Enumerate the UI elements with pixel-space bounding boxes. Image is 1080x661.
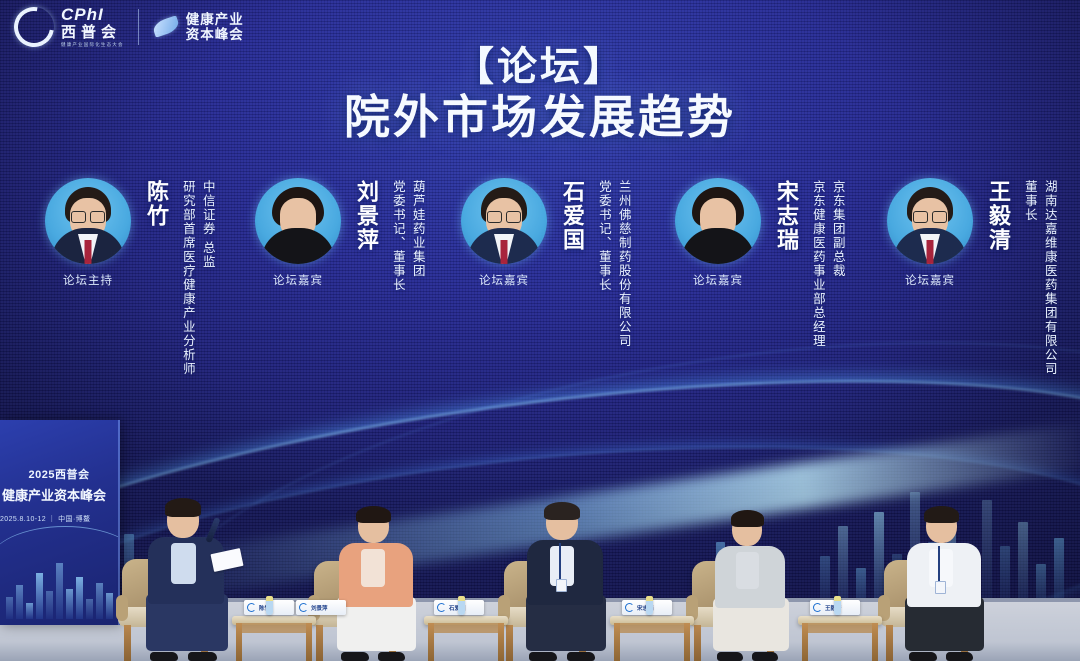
panelist-org-line: 党委书记、董事长 xyxy=(595,180,612,348)
health-capital-logo: 健康产业 资本峰会 xyxy=(153,12,244,42)
side-table xyxy=(424,615,508,661)
table-nameplate: 刘景萍 xyxy=(296,600,346,615)
panelist-card: 论坛主持陈竹中信证券 总监研究部首席医疗健康产业分析师 xyxy=(42,178,216,376)
nameplate-logo-icon xyxy=(437,603,446,612)
panelist-avatar xyxy=(461,178,547,264)
cphi-logo: CPhI 西普会 健康产业国际化生态大会 xyxy=(14,6,124,48)
panelist-name: 王毅清 xyxy=(982,180,1014,252)
seated-panelist xyxy=(898,501,990,661)
panelist-role: 论坛嘉宾 xyxy=(273,272,323,288)
water-bottle xyxy=(646,596,653,615)
cphi-logo-cn: 西普会 xyxy=(61,25,124,40)
side-table xyxy=(610,615,694,661)
panelist-org: 京东集团副总裁京东健康医药事业部总经理 xyxy=(806,180,846,348)
panelist-role: 论坛嘉宾 xyxy=(693,272,743,288)
water-bottle xyxy=(458,596,465,615)
cphi-logo-subtitle: 健康产业国际化生态大会 xyxy=(61,43,124,48)
panelist-org-line: 研究部首席医疗健康产业分析师 xyxy=(179,180,196,376)
panelist-avatar xyxy=(255,178,341,264)
seated-panelist xyxy=(330,501,422,661)
panelist-name: 陈竹 xyxy=(140,180,172,228)
conference-stage-photo: CPhI 西普会 健康产业国际化生态大会 健康产业 资本峰会 【论坛】 院外市场… xyxy=(0,0,1080,661)
panelist-role: 论坛嘉宾 xyxy=(905,272,955,288)
seated-panelist xyxy=(706,505,794,661)
panelist-avatar xyxy=(675,178,761,264)
cphi-ring-icon xyxy=(6,0,62,55)
forum-title: 【论坛】 院外市场发展趋势 xyxy=(0,46,1080,144)
health-logo-line2: 资本峰会 xyxy=(186,27,244,42)
panelist-org-line: 兰州佛慈制药股份有限公司 xyxy=(615,180,632,348)
stage-seating-scene: 陈竹刘景萍石爱国宋志瑞王毅清 xyxy=(0,400,1080,661)
seated-panelist xyxy=(138,493,234,661)
nameplate-logo-icon xyxy=(813,603,822,612)
panelist-org: 中信证券 总监研究部首席医疗健康产业分析师 xyxy=(176,180,216,376)
header-logos: CPhI 西普会 健康产业国际化生态大会 健康产业 资本峰会 xyxy=(14,6,244,48)
seated-panelist xyxy=(518,497,612,661)
title-line-1: 【论坛】 xyxy=(0,46,1080,88)
panelist-name: 刘景萍 xyxy=(350,180,382,252)
panelist-org-line: 党委书记、董事长 xyxy=(389,180,406,292)
panelist-role: 论坛嘉宾 xyxy=(479,272,529,288)
health-logo-line1: 健康产业 xyxy=(186,12,244,27)
panelist-role: 论坛主持 xyxy=(63,272,113,288)
side-table xyxy=(798,615,882,661)
panelist-org-line: 葫芦娃药业集团 xyxy=(409,180,426,292)
panelist-org: 兰州佛慈制药股份有限公司党委书记、董事长 xyxy=(592,180,632,348)
panelist-org: 湖南达嘉维康医药集团有限公司董事长 xyxy=(1018,180,1058,376)
panelist-org-line: 京东健康医药事业部总经理 xyxy=(809,180,826,348)
water-bottle xyxy=(266,596,273,615)
panelist-avatar xyxy=(887,178,973,264)
panelist-org-line: 京东集团副总裁 xyxy=(829,180,846,348)
panelist-org-line: 董事长 xyxy=(1021,180,1038,376)
panelist-avatar xyxy=(45,178,131,264)
panelist-card: 论坛嘉宾王毅清湖南达嘉维康医药集团有限公司董事长 xyxy=(884,178,1058,376)
cphi-logo-en: CPhI xyxy=(61,6,124,23)
nameplate-logo-icon xyxy=(299,603,308,612)
panelist-org: 葫芦娃药业集团党委书记、董事长 xyxy=(386,180,426,292)
panelist-org-line: 湖南达嘉维康医药集团有限公司 xyxy=(1041,180,1058,376)
nameplate-logo-icon xyxy=(625,603,634,612)
panelist-card: 论坛嘉宾石爱国兰州佛慈制药股份有限公司党委书记、董事长 xyxy=(458,178,632,348)
panelist-name: 石爱国 xyxy=(556,180,588,252)
nameplate-text: 刘景萍 xyxy=(311,604,328,612)
nameplate-logo-icon xyxy=(247,603,256,612)
water-bottle xyxy=(834,596,841,615)
panelist-card: 论坛嘉宾宋志瑞京东集团副总裁京东健康医药事业部总经理 xyxy=(672,178,846,348)
panelist-name: 宋志瑞 xyxy=(770,180,802,252)
panelist-org-line: 中信证券 总监 xyxy=(199,180,216,376)
side-table xyxy=(232,615,316,661)
leaf-icon xyxy=(151,16,180,38)
panelist-card: 论坛嘉宾刘景萍葫芦娃药业集团党委书记、董事长 xyxy=(252,178,426,292)
title-line-2: 院外市场发展趋势 xyxy=(0,90,1080,144)
logo-divider xyxy=(138,9,139,45)
